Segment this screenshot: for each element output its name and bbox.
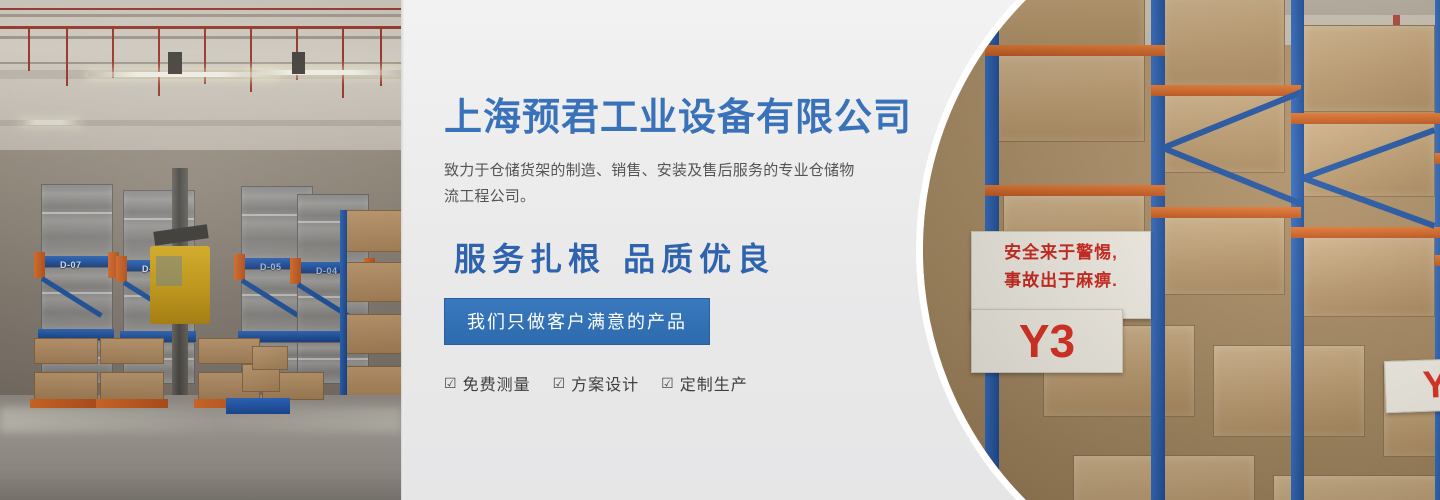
company-title: 上海预君工业设备有限公司 [444, 96, 914, 140]
company-subtitle: 致力于仓储货架的制造、销售、安装及售后服务的专业仓储物流工程公司。 [444, 158, 856, 211]
banner-copy: 上海预君工业设备有限公司 致力于仓储货架的制造、销售、安装及售后服务的专业仓储物… [444, 96, 914, 395]
feature-list: ☑ 免费测量 ☑ 方案设计 ☑ 定制生产 [444, 371, 914, 395]
feature-item: ☑ 免费测量 [444, 371, 531, 395]
feature-label: 方案设计 [571, 371, 639, 395]
photo-divider [401, 0, 404, 500]
feature-label: 定制生产 [680, 371, 748, 395]
promise-badge[interactable]: 我们只做客户满意的产品 [444, 298, 710, 345]
feature-item: ☑ 方案设计 [553, 371, 640, 395]
check-icon: ☑ [661, 376, 675, 390]
left-warehouse-photo: D-07 D-06 D-05 [0, 0, 401, 500]
right-warehouse-photo: 安全来于警惕, 事故出于麻痹. Y3 Y3 [916, 0, 1440, 500]
check-icon: ☑ [444, 376, 458, 390]
feature-label: 免费测量 [463, 371, 531, 395]
feature-item: ☑ 定制生产 [661, 371, 748, 395]
check-icon: ☑ [553, 376, 567, 390]
hero-banner: D-07 D-06 D-05 [0, 0, 1440, 500]
slogan: 服务扎根 品质优良 [454, 234, 914, 280]
